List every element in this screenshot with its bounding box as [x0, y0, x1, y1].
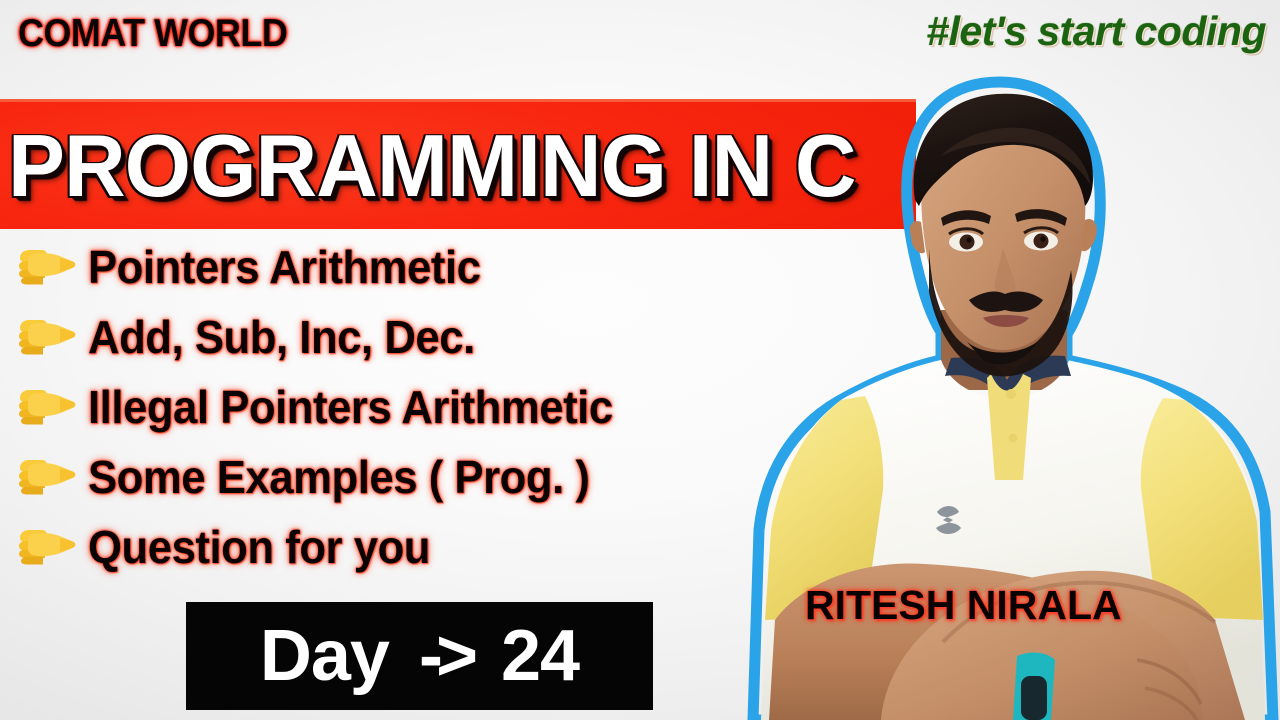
channel-name: COMAT WORLD [18, 12, 287, 56]
pointing-right-hand-icon [4, 244, 88, 290]
day-label: Day [260, 615, 389, 697]
page-title: PROGRAMMING IN C [8, 115, 856, 217]
arrow-icon: -> [419, 615, 471, 697]
day-number: 24 [501, 615, 579, 697]
pointing-right-hand-icon [4, 314, 88, 360]
topic-label: Pointers Arithmetic [88, 240, 480, 294]
presenter-name: RITESH NIRALA [805, 582, 1122, 629]
day-badge: Day -> 24 [186, 602, 653, 710]
topic-label: Question for you [88, 520, 430, 574]
pointing-right-hand-icon [4, 524, 88, 570]
topic-label: Add, Sub, Inc, Dec. [88, 310, 475, 364]
thumbnail-canvas: COMAT WORLD #let's start coding PROGRAMM… [0, 0, 1280, 720]
topic-label: Some Examples ( Prog. ) [88, 450, 589, 504]
tagline: #let's start coding [926, 8, 1266, 55]
pointing-right-hand-icon [4, 384, 88, 430]
topic-label: Illegal Pointers Arithmetic [88, 380, 613, 434]
pointing-right-hand-icon [4, 454, 88, 500]
